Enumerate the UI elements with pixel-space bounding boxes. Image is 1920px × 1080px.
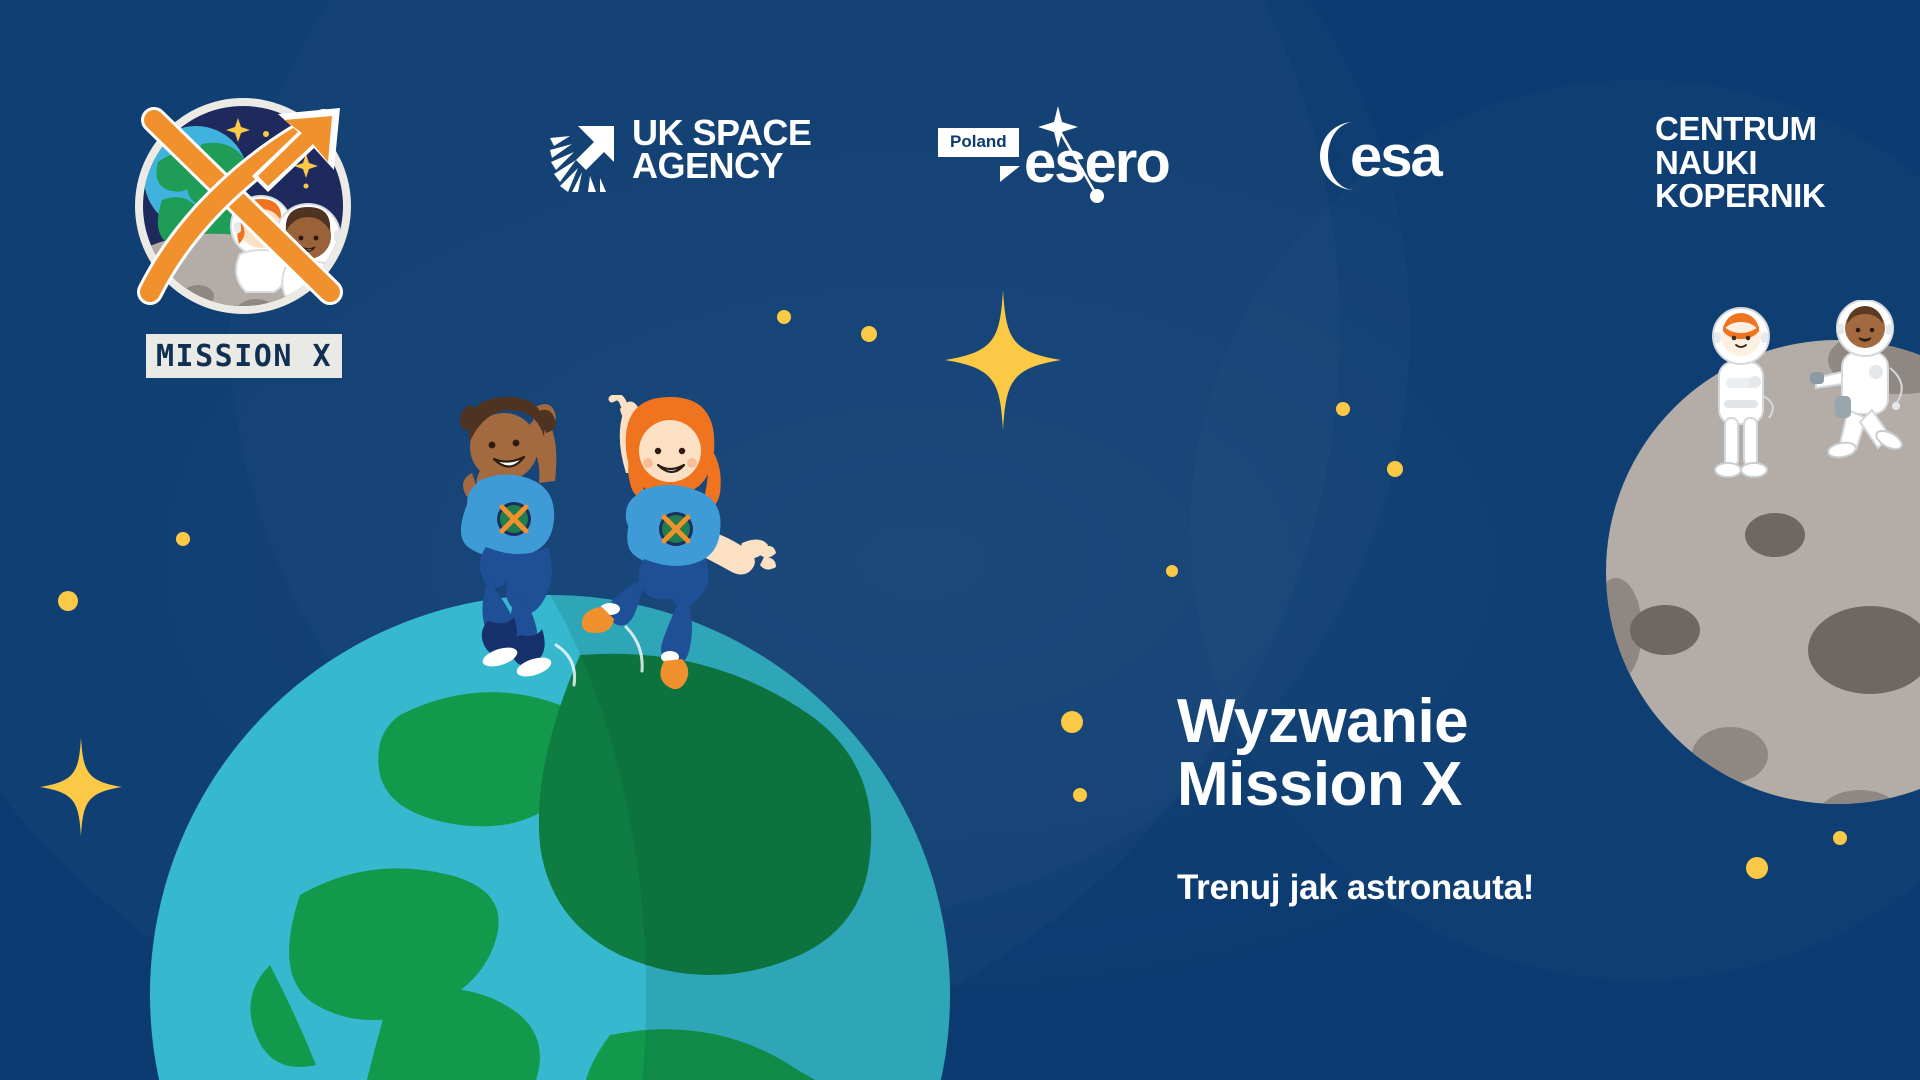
girl-jumping xyxy=(582,397,776,689)
mission-x-logo[interactable]: MISSION X xyxy=(128,96,358,396)
page-title-text: WyzwanieMission X xyxy=(1177,690,1817,816)
star-dot xyxy=(861,326,877,342)
esero-wordmark: esero xyxy=(1024,134,1169,192)
esa-logo[interactable]: esa xyxy=(1310,118,1510,194)
star-dot xyxy=(176,532,190,546)
page-title-line-1: Wyzwanie xyxy=(1177,690,1817,753)
uk-space-agency-logo[interactable]: UK SPACE AGENCY xyxy=(548,118,788,198)
sparkle-star-icon xyxy=(40,735,122,839)
boy-jumping xyxy=(460,397,575,685)
page-title: Mission X WyzwanieMission X xyxy=(1177,690,1817,816)
uk-space-agency-line2: AGENCY xyxy=(632,149,811,182)
copernicus-science-centre-logo[interactable]: CENTRUM NAUKI KOPERNIK xyxy=(1655,112,1825,213)
star-dot xyxy=(1336,402,1350,416)
star-dot xyxy=(1073,788,1087,802)
page-title-line-2: Mission X xyxy=(1177,753,1817,816)
partner-logos-row: MISSION X xyxy=(0,0,1920,230)
star-dot xyxy=(1833,831,1847,845)
star-dot xyxy=(1387,461,1403,477)
star-dot xyxy=(58,591,78,611)
copernicus-line3: KOPERNIK xyxy=(1655,179,1825,213)
astronaut-walking xyxy=(1810,300,1905,459)
esero-poland-logo[interactable]: Poland esero xyxy=(938,106,1168,206)
mission-x-wordmark-text: MISSION X xyxy=(156,339,332,374)
astronauts-group xyxy=(1690,300,1920,490)
uk-space-agency-wordmark: UK SPACE AGENCY xyxy=(632,116,811,182)
kids-illustration xyxy=(430,395,850,695)
star-dot xyxy=(1061,711,1083,733)
uk-space-agency-mark-icon xyxy=(548,120,622,194)
esa-mark-icon: esa xyxy=(1310,118,1510,194)
poster-canvas: MISSION X xyxy=(0,0,1920,1080)
esero-country-tag: Poland xyxy=(938,128,1019,157)
page-subtitle: Trenuj jak astronauta! xyxy=(1177,868,1817,908)
copernicus-line1: CENTRUM xyxy=(1655,112,1825,146)
mission-x-wordmark: MISSION X xyxy=(146,334,342,378)
esero-country-label: Poland xyxy=(950,132,1007,151)
headline-block: Mission X WyzwanieMission X Trenuj jak a… xyxy=(1177,690,1817,908)
sparkle-star-icon xyxy=(945,290,1061,430)
mission-x-badge-icon xyxy=(128,96,358,321)
star-dot xyxy=(1166,565,1178,577)
star-dot xyxy=(777,310,791,324)
astronaut-standing xyxy=(1713,308,1773,477)
copernicus-line2: NAUKI xyxy=(1655,146,1825,180)
